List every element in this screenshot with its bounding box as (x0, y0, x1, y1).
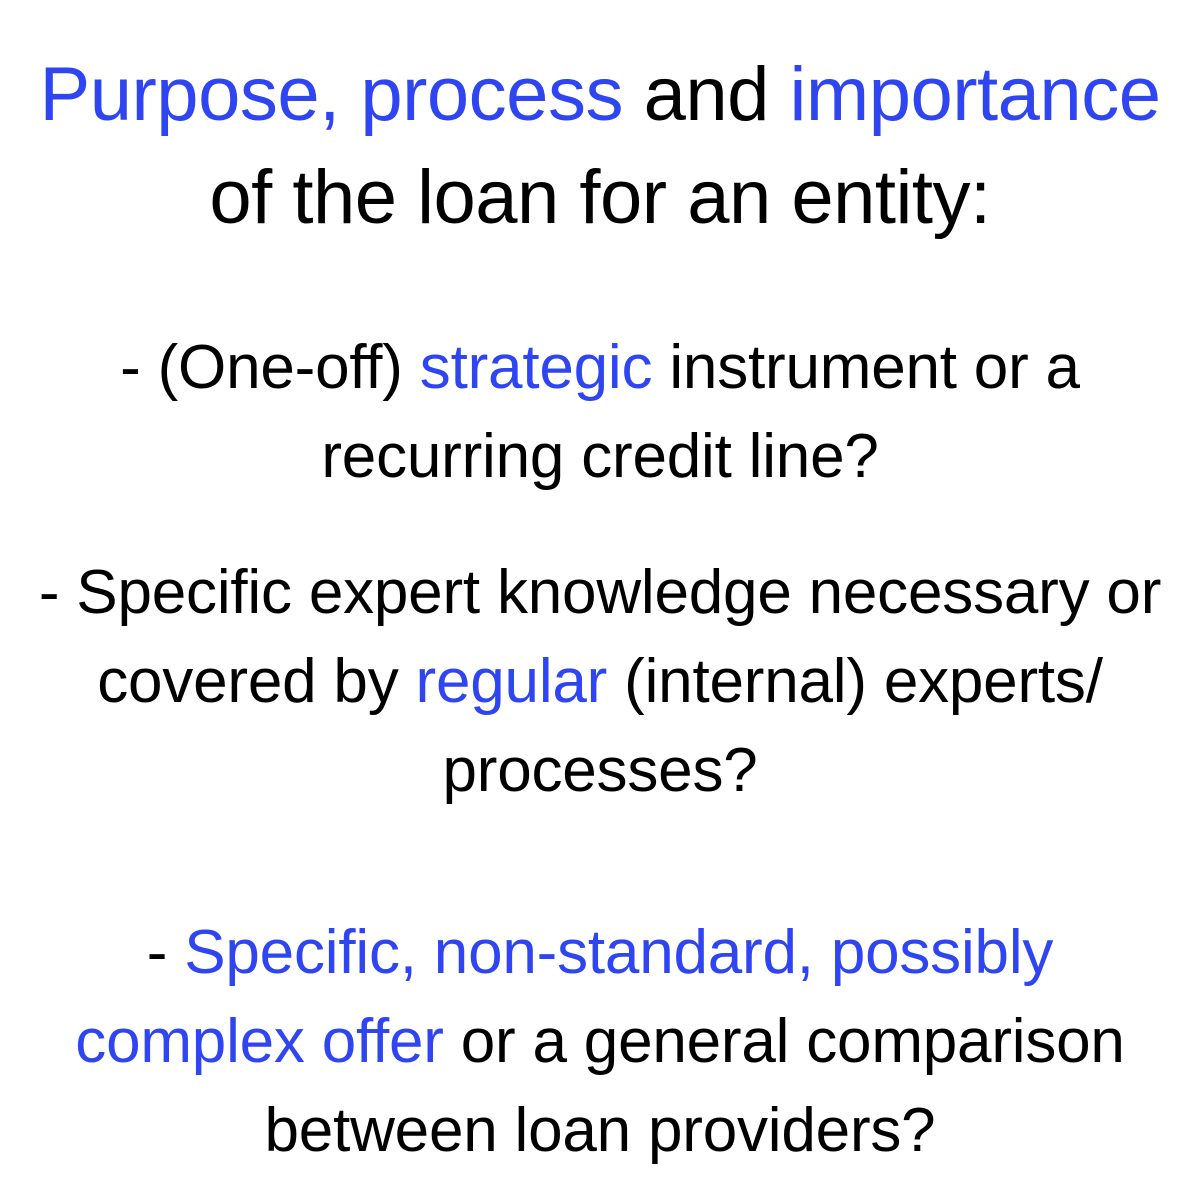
bullet-3-plain-lead: - (147, 918, 184, 987)
list-item: - Specific expert knowledge necessary or… (18, 548, 1182, 816)
list-item: - (One-off) strategic instrument or a re… (18, 323, 1182, 502)
slide-canvas: Purpose, process and importance of the l… (0, 0, 1200, 1200)
bullet-1-plain-lead: - (One-off) (120, 333, 420, 402)
title-accent-purpose-process: Purpose, process (40, 52, 623, 137)
bullet-1-accent-strategic: strategic (420, 333, 653, 402)
list-item: - Specific, non-standard, possibly compl… (18, 908, 1182, 1176)
page-title: Purpose, process and importance of the l… (18, 44, 1182, 249)
title-plain-of-the-loan: of the loan for an entity: (209, 155, 990, 240)
bullet-list: - (One-off) strategic instrument or a re… (18, 323, 1182, 1175)
title-accent-importance: importance (790, 52, 1161, 137)
bullet-2-accent-regular: regular (416, 647, 608, 716)
title-plain-and: and (623, 52, 790, 137)
